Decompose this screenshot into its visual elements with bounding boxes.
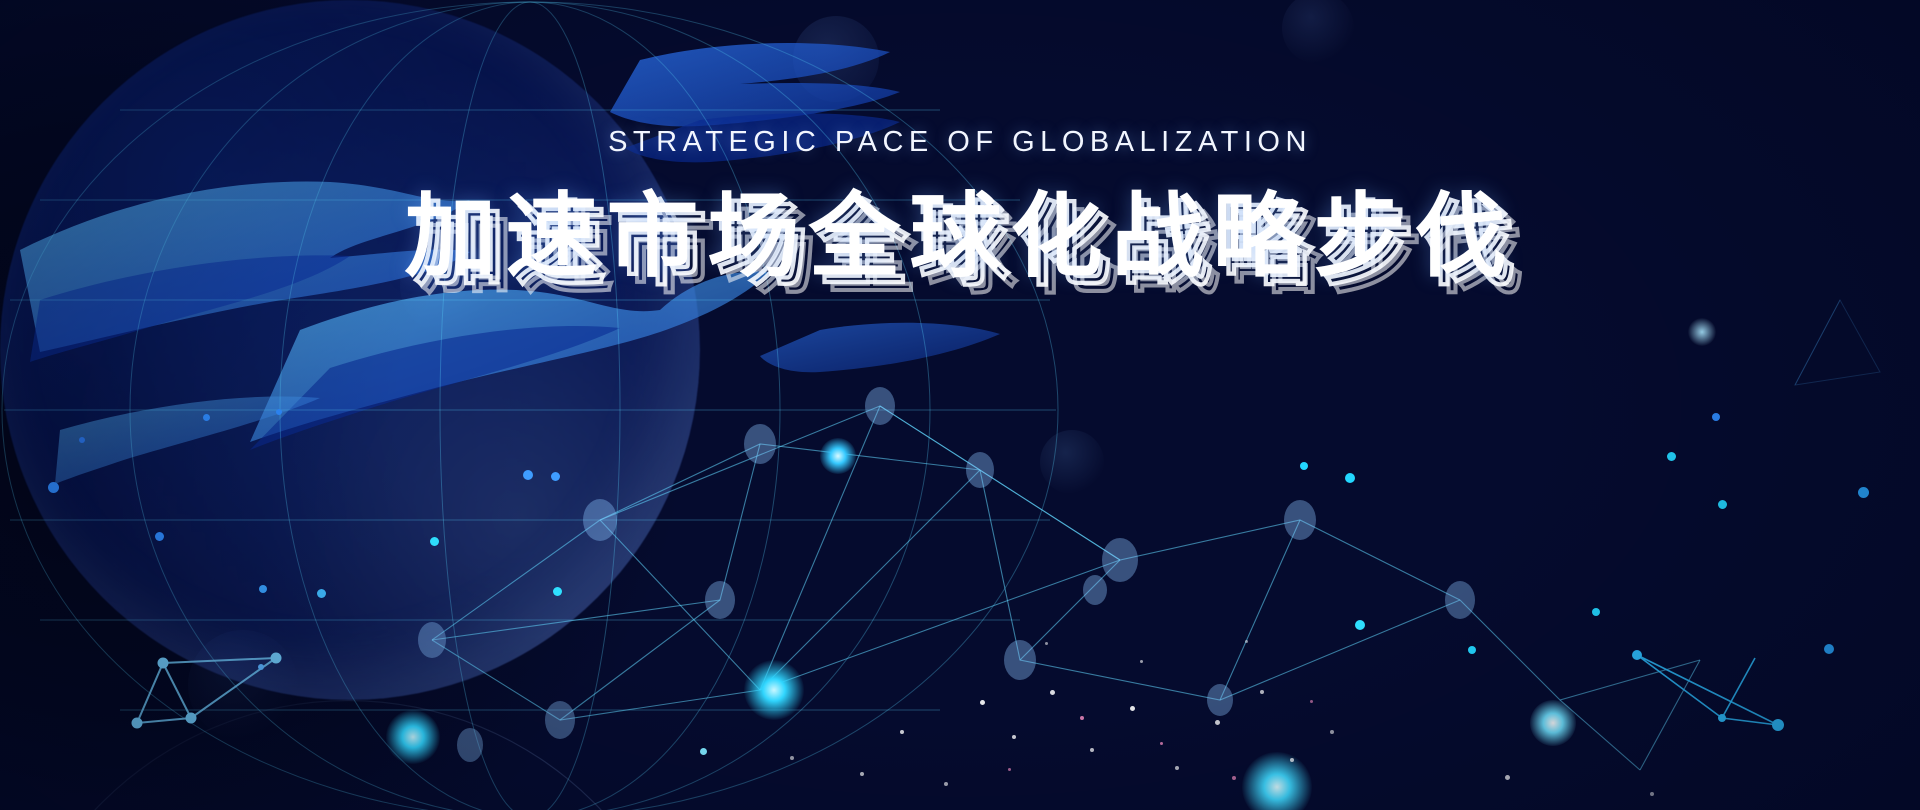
hero-banner: STRATEGIC PACE OF GLOBALIZATION 加速市场全球化战… xyxy=(0,0,1920,810)
bubble-decor-2 xyxy=(1282,0,1354,64)
scatter-dot xyxy=(1468,646,1476,654)
glow-node-3 xyxy=(1242,752,1312,810)
glow-node-6 xyxy=(1688,318,1716,346)
hero-subtitle: STRATEGIC PACE OF GLOBALIZATION xyxy=(0,128,1920,157)
scatter-dot xyxy=(1824,644,1834,654)
scatter-dot xyxy=(1300,462,1308,470)
scatter-dot xyxy=(1712,413,1720,421)
scatter-dot xyxy=(1355,620,1365,630)
headline-main-text: 加速市场全球化战略步伐 xyxy=(404,186,1515,288)
scatter-dot xyxy=(1858,487,1869,498)
scatter-dot xyxy=(1718,500,1727,509)
hero-headline: 加速市场全球化战略步伐 加速市场全球化战略步伐 加速市场全球化战略步伐 xyxy=(404,189,1515,287)
glow-node-5 xyxy=(1530,700,1576,746)
hero-text-block: STRATEGIC PACE OF GLOBALIZATION 加速市场全球化战… xyxy=(0,128,1920,287)
scatter-dot xyxy=(1667,452,1676,461)
scatter-dot xyxy=(1345,473,1355,483)
scatter-dot xyxy=(1592,608,1600,616)
